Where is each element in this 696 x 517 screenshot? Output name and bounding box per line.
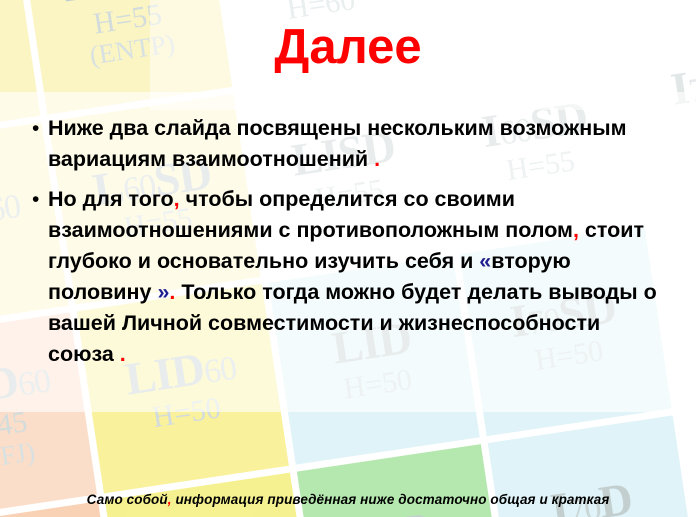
bullet-0-run-0: Ниже два слайда посвящены нескольким воз… [48, 116, 627, 171]
bullet-list: •Ниже два слайда посвящены нескольким во… [26, 113, 666, 379]
bullet-0-run-1: . [374, 147, 380, 171]
caption-run-2: информация приведённая ниже достаточно о… [172, 492, 610, 507]
bullet-1-run-7: » [157, 280, 169, 304]
bullet-1-run-5: « [479, 249, 491, 273]
slide-content: Далее •Ниже два слайда посвящены несколь… [0, 0, 696, 517]
caption-run-0: Само собой [87, 492, 168, 507]
bullet-text: Ниже два слайда посвящены нескольким воз… [48, 113, 666, 175]
footer-caption: Само собой, информация приведённая ниже … [0, 492, 696, 507]
bullet-text: Но для того, чтобы определится со своими… [48, 184, 666, 370]
bullet-1-run-10: . [120, 342, 126, 366]
slide-title: Далее [0, 22, 696, 73]
bullet-item: •Но для того, чтобы определится со своим… [26, 184, 666, 370]
bullet-1-run-0: Но для того [48, 187, 174, 211]
bullet-marker-icon: • [26, 113, 48, 144]
slide-canvas: L60S60H=60L60S60H=55(ENTP)LIS60H=60I60S7… [0, 0, 696, 517]
bullet-marker-icon: • [26, 184, 48, 215]
bullet-item: •Ниже два слайда посвящены нескольким во… [26, 113, 666, 175]
